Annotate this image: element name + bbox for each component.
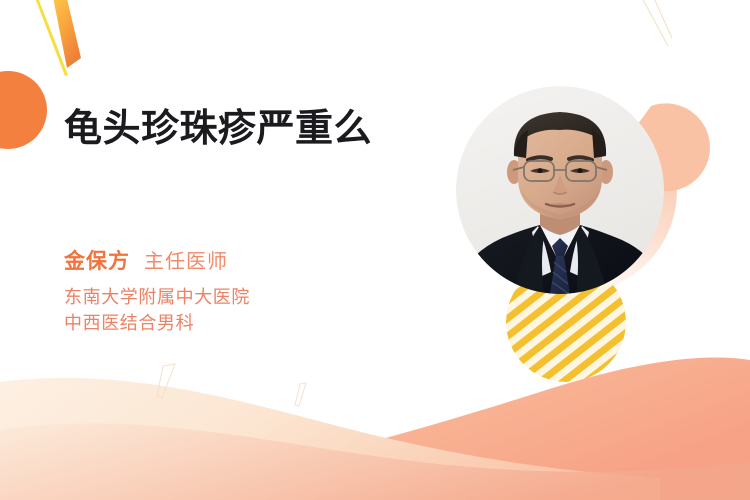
page-title: 龟头珍珠疹严重么 (64, 104, 444, 154)
affiliation-line-1: 东南大学附属中大医院 (64, 284, 250, 310)
wave-left-decoration (0, 378, 660, 500)
hairline-decoration (640, 0, 672, 46)
doctor-info-card: 龟头珍珠疹严重么 金保方主任医师 东南大学附属中大医院 中西医结合男科 (0, 0, 750, 500)
orange-circle-decoration (0, 71, 47, 149)
wave-right-decoration (120, 357, 750, 500)
doctor-affiliation: 东南大学附属中大医院 中西医结合男科 (64, 284, 250, 336)
affiliation-line-2: 中西医结合男科 (64, 310, 250, 336)
doctor-professional-title: 主任医师 (144, 251, 228, 273)
ribbon-decoration (32, 0, 81, 76)
wave-overlay-decoration (0, 423, 750, 500)
doctor-line: 金保方主任医师 (64, 245, 228, 275)
portrait-clip (456, 86, 664, 294)
sliver-decoration (157, 364, 306, 406)
text-block: 龟头珍珠疹严重么 金保方主任医师 东南大学附属中大医院 中西医结合男科 (64, 104, 444, 154)
doctor-name: 金保方 (64, 250, 130, 273)
avatar (456, 86, 664, 294)
doctor-portrait (456, 86, 664, 294)
